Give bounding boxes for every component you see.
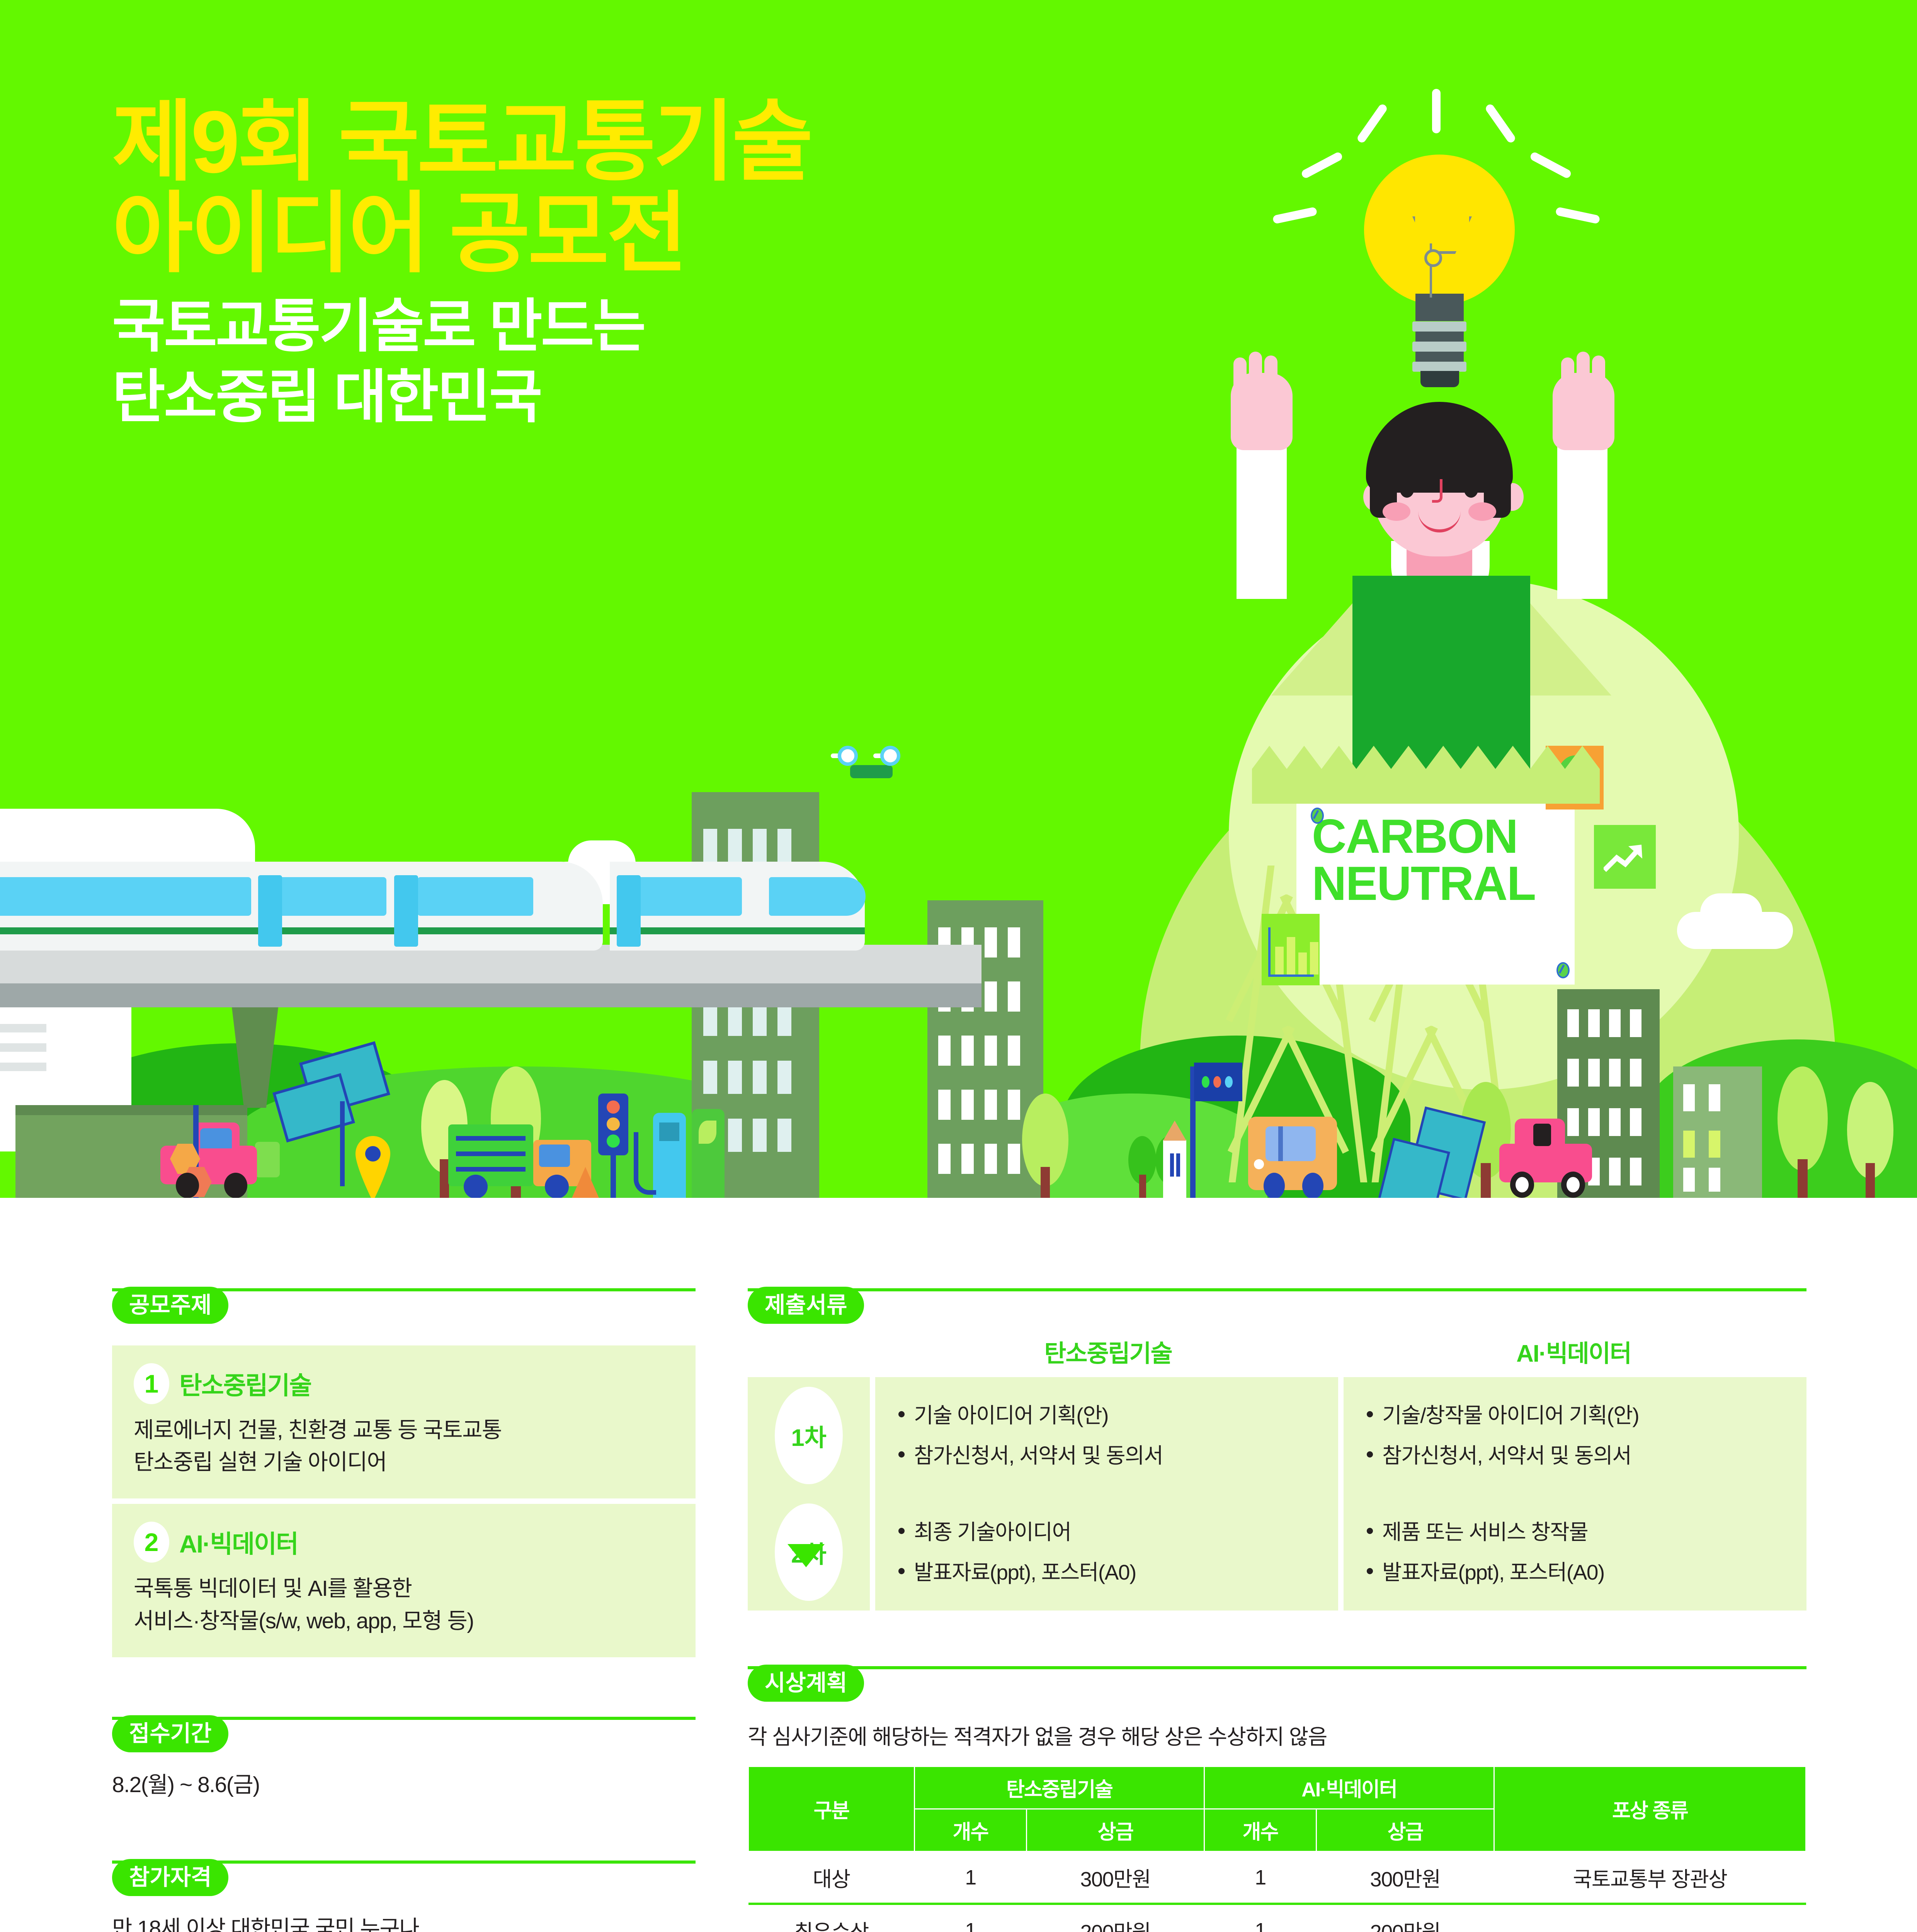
window [1630,1059,1641,1087]
truck-cab-window [539,1145,570,1167]
hero-title-block: 제9회 국토교통기술 아이디어 공모전 국토교통기술로 만드는 탄소중립 대한민… [112,97,1271,431]
list-item: 최종 기술아이디어 [896,1517,1317,1547]
train-window [634,877,742,916]
section-rule [748,1666,1806,1669]
section-period-header: 접수기간 [112,1715,696,1759]
drone-body [850,765,893,778]
awards-th-prize: 포상 종류 [1494,1767,1806,1852]
window [777,1003,791,1036]
awards-note: 각 심사기준에 해당하는 적격자가 없을 경우 해당 상은 수상하지 않음 [748,1719,1806,1750]
window [938,1036,951,1066]
van-window-split [1278,1126,1283,1161]
tree-canopy [1778,1066,1828,1171]
section-rule [748,1288,1806,1291]
train-window [0,877,251,916]
window [985,1090,997,1120]
section-documents-label: 제출서류 [748,1287,864,1324]
lightbulb-filament-dot [1424,249,1442,267]
section-eligibility: 참가자격 만 18세 이상 대한민국 국민 누구나 (개인 혹은 5인 이하 팀… [112,1859,696,1932]
topic-item-2-number: 2 [134,1522,169,1563]
house-roof [15,1105,247,1115]
list-item: 발표자료(ppt), 포스터(A0) [896,1557,1317,1587]
hero-banner: CARBON NEUTRAL [0,0,1917,1198]
window [1630,1108,1641,1136]
list-item: 참가신청서, 서약서 및 동의서 [1364,1440,1786,1471]
section-topic: 공모주제 1 탄소중립기술 제로에너지 건물, 친환경 교통 등 국토교통 탄소… [112,1287,696,1657]
hero-title-line-1: 제9회 국토교통기술 [112,97,1271,188]
hero-subtitle-line-1: 국토교통기술로 만드는 [112,292,1271,361]
section-eligibility-label: 참가자격 [112,1859,228,1896]
house-door-icon [255,1142,280,1177]
character-eye-right [1464,479,1478,498]
map-pin-icon [356,1136,390,1198]
trend-up-arrow-icon [1604,842,1646,873]
hero-subtitle-line-2: 탄소중립 대한민국 [112,363,1271,431]
window [1008,1090,1020,1120]
window [1709,1168,1720,1192]
billboard-line-2: NEUTRAL [1312,861,1575,908]
bulb-ray [1272,207,1317,224]
window [1567,1009,1579,1037]
window [1609,1108,1621,1136]
drone-rotor-hub-icon [838,746,858,766]
road-sign-dot [1225,1076,1233,1088]
van-wheel [1264,1173,1285,1198]
documents-cell-carbon-2: 최종 기술아이디어 발표자료(ppt), 포스터(A0) [875,1494,1338,1611]
section-topic-header: 공모주제 [112,1287,696,1330]
truck-wheel [464,1175,488,1198]
awards-th-count: 개수 [915,1809,1027,1852]
section-period: 접수기간 8.2(월) ~ 8.6(금) [112,1715,696,1801]
bar-chart-bar [1298,952,1307,975]
left-column: 공모주제 1 탄소중립기술 제로에너지 건물, 친환경 교통 등 국토교통 탄소… [112,1287,696,1932]
window [703,829,717,862]
window [1588,1059,1600,1087]
marker-post-line [1170,1153,1174,1177]
list-item: 기술 아이디어 기획(안) [896,1400,1317,1430]
bulb-ray [1484,103,1517,144]
marker-post-cap [1163,1121,1186,1141]
topic-item-2-name: AI·빅데이터 [179,1524,298,1560]
topic-item-1-desc: 제로에너지 건물, 친환경 교통 등 국토교통 탄소중립 실현 기술 아이디어 [134,1414,674,1478]
eligibility-line-1: 만 18세 이상 대한민국 국민 누구나 [112,1912,696,1932]
truck-stripe [456,1136,526,1141]
stage-flow-arrow-icon [788,1544,825,1567]
train-door [617,875,641,947]
window [1630,1158,1641,1185]
window [1630,1009,1641,1037]
marker-post [1163,1140,1186,1198]
section-documents: 제출서류 탄소중립기술 AI·빅데이터 1차 기술 아이디어 기획(안) [748,1287,1806,1611]
window [777,1119,791,1152]
window [1588,1108,1600,1136]
car-pink2-window [1533,1124,1551,1146]
truck-wheel [545,1175,569,1198]
window [961,1144,974,1174]
character-nose [1432,479,1442,503]
train-door [394,875,418,947]
window [703,1003,717,1036]
window [1683,1168,1695,1192]
road-sign-dot [1213,1076,1221,1088]
documents-cell-ai-1: 기술/창작물 아이디어 기획(안) 참가신청서, 서약서 및 동의서 [1344,1377,1806,1494]
awards-cell-prize: 국토교통부 장관상 [1494,1852,1806,1904]
window [1008,1036,1020,1066]
window [777,829,791,862]
documents-col-header-ai: AI·빅데이터 [1341,1334,1806,1369]
lightbulb-thread [1412,362,1466,372]
section-awards: 시상계획 각 심사기준에 해당하는 적격자가 없을 경우 해당 상은 수상하지 … [748,1665,1806,1932]
topic-item-1-name: 탄소중립기술 [179,1366,311,1401]
traffic-cone [572,1167,599,1198]
window [1683,1131,1695,1158]
traffic-light-red [607,1100,620,1114]
section-awards-label: 시상계획 [748,1665,864,1702]
train-stripe [0,927,603,934]
table-row: 대상 1 300만원 1 300만원 국토교통부 장관상 [748,1852,1806,1904]
window [1609,1059,1621,1087]
window [728,1061,742,1094]
character-eye-left [1400,479,1414,498]
traffic-light-pole [611,1151,616,1198]
documents-cell-carbon-1: 기술 아이디어 기획(안) 참가신청서, 서약서 및 동의서 [875,1377,1338,1494]
bar-chart-bar [1275,947,1284,975]
monorail-deck-lower [0,983,981,1007]
character-finger [1592,355,1605,398]
table-row: 최우수상 1 200만원 1 200만원 국토교통과학기술진흥원장상 [748,1904,1806,1932]
awards-cell-amount: 300만원 [1317,1852,1494,1904]
lightbulb-thread [1412,342,1466,352]
car-pink-wheel [176,1173,199,1198]
van-wheel [1302,1173,1323,1198]
documents-grid: 1차 기술 아이디어 기획(안) 참가신청서, 서약서 및 동의서 기술/창작물… [748,1377,1806,1611]
window [985,1144,997,1174]
awards-cell-prize: 국토교통과학기술진흥원장상 [1494,1904,1806,1932]
train-door [258,875,282,947]
drone-rotor-hub-icon [880,746,900,766]
window [1008,927,1020,957]
window [1709,1131,1720,1158]
window [753,829,767,862]
monorail-deck [0,945,981,983]
awards-cell-amount: 200만원 [1317,1904,1494,1932]
right-column: 제출서류 탄소중립기술 AI·빅데이터 1차 기술 아이디어 기획(안) [748,1287,1806,1932]
documents-cell-ai-2: 제품 또는 서비스 창작물 발표자료(ppt), 포스터(A0) [1344,1494,1806,1611]
awards-th-carbon: 탄소중립기술 [915,1767,1204,1809]
window [703,1061,717,1094]
list-item: 제품 또는 서비스 창작물 [1364,1517,1786,1547]
station-detail-line [0,1043,46,1052]
station-detail-line [0,1063,46,1071]
bar-chart-axis-y [1268,927,1271,977]
bar-chart-bar [1310,942,1318,975]
train-window [417,877,533,916]
lightbulb-neck [1415,294,1464,311]
window [753,1061,767,1094]
bulb-ray [1300,151,1344,179]
documents-column-headers: 탄소중립기술 AI·빅데이터 [875,1334,1806,1369]
billboard-screw-icon [1311,808,1324,824]
building-right-short [1673,1066,1762,1198]
lightbulb-thread [1415,311,1464,321]
topic-item-1-number: 1 [134,1363,169,1404]
awards-cell-div: 대상 [748,1852,915,1904]
awards-cell-count: 1 [1204,1904,1317,1932]
window [1567,1059,1579,1087]
section-awards-header: 시상계획 [748,1665,1806,1708]
topic-item-1-head: 1 탄소중립기술 [134,1363,674,1404]
window [728,829,742,862]
topic-item-2: 2 AI·빅데이터 국톡통 빅데이터 및 AI를 활용한 서비스·창작물(s/w… [112,1504,696,1657]
window [985,1036,997,1066]
awards-cell-count: 1 [1204,1852,1317,1904]
topic-item-2-desc: 국톡통 빅데이터 및 AI를 활용한 서비스·창작물(s/w, web, app… [134,1573,674,1637]
documents-row-stage2: 2차 최종 기술아이디어 발표자료(ppt), 포스터(A0) 제품 또는 서비… [748,1494,1806,1611]
topic-item-1: 1 탄소중립기술 제로에너지 건물, 친환경 교통 등 국토교통 탄소중립 실현… [112,1345,696,1498]
train-window [274,877,386,916]
station-detail-line [0,1024,46,1032]
road-sign-dot [1202,1076,1209,1088]
documents-col-header-carbon: 탄소중립기술 [875,1334,1341,1369]
tree-trunk [440,1159,449,1198]
awards-th-amount: 상금 [1317,1809,1494,1852]
section-documents-header: 제출서류 [748,1287,1806,1330]
window [1609,1009,1621,1037]
awards-table: 구분 탄소중립기술 AI·빅데이터 포상 종류 개수 상금 개수 상금 [748,1766,1806,1932]
tree-trunk [1041,1167,1050,1198]
bulb-ray [1432,89,1441,133]
window [1709,1084,1720,1111]
car-pink-wheel [224,1173,247,1198]
window [1588,1009,1600,1037]
car-pink-window [200,1128,232,1148]
cloud [1700,893,1762,932]
billboard-screw-icon [1556,962,1570,978]
awards-cell-count: 1 [915,1904,1027,1932]
window [728,1003,742,1036]
bar-chart-axis-x [1268,975,1314,977]
bulb-ray [1356,103,1388,144]
bar-chart-bar [1287,937,1295,975]
awards-th-count: 개수 [1204,1809,1317,1852]
section-eligibility-header: 참가자격 [112,1859,696,1902]
tree-trunk [1139,1175,1146,1198]
character-shoulder-left [1271,599,1356,696]
topic-item-2-head: 2 AI·빅데이터 [134,1522,674,1563]
documents-stage-cell: 1차 [748,1377,870,1494]
bulb-ray [1555,207,1600,224]
window [985,981,997,1012]
ev-charger-cable [634,1132,656,1195]
documents-row-stage1: 1차 기술 아이디어 기획(안) 참가신청서, 서약서 및 동의서 기술/창작물… [748,1377,1806,1494]
awards-th-div: 구분 [748,1767,915,1852]
window [777,1061,791,1094]
window [1567,1108,1579,1136]
tree-trunk [1798,1159,1808,1198]
window [961,1090,974,1120]
awards-th-amount: 상금 [1027,1809,1204,1852]
window [728,1119,742,1152]
content-area: 공모주제 1 탄소중립기술 제로에너지 건물, 친환경 교통 등 국토교통 탄소… [0,1198,1917,1932]
lightbulb-thread [1415,352,1464,362]
awards-cell-amount: 200만원 [1027,1904,1204,1932]
list-item: 발표자료(ppt), 포스터(A0) [1364,1557,1786,1587]
character-arm-right [1557,437,1607,599]
lightbulb-base [1420,371,1459,387]
awards-cell-div: 최우수상 [748,1904,915,1932]
character-finger [1577,352,1590,394]
awards-cell-amount: 300만원 [1027,1852,1204,1904]
lightbulb-thread [1412,321,1466,332]
character-cheek-right [1468,502,1496,521]
section-period-text: 8.2(월) ~ 8.6(금) [112,1769,696,1801]
truck-stripe [456,1167,526,1172]
marker-post-line [1176,1153,1180,1177]
window [753,1119,767,1152]
section-topic-label: 공모주제 [112,1287,228,1324]
awards-th-ai: AI·빅데이터 [1204,1767,1494,1809]
tree-trunk [1866,1163,1875,1198]
solar-panel-post [340,1101,345,1186]
ev-charger-screen [659,1122,679,1141]
list-item: 기술/창작물 아이디어 기획(안) [1364,1400,1786,1430]
billboard-line-1: CARBON [1312,813,1575,861]
window [1008,1144,1020,1174]
bulb-ray [1529,151,1572,179]
hero-title-line-2: 아이디어 공모전 [112,188,1271,280]
window [961,1036,974,1066]
window [938,1090,951,1120]
billboard-text: CARBON NEUTRAL [1312,813,1575,907]
window [1008,981,1020,1012]
window [1609,1158,1621,1185]
window [753,1003,767,1036]
grass-zigzag [1252,746,1600,804]
ev-charger-leaf-icon [699,1121,716,1144]
car-pink2-wheel [1510,1172,1534,1198]
car-pink2-wheel [1561,1172,1585,1198]
documents-stage-1-badge: 1차 [775,1387,843,1484]
train-window [769,877,866,916]
window [938,1144,951,1174]
character-arm-left [1237,437,1287,599]
traffic-light-green [607,1134,620,1148]
awards-header-row-1: 구분 탄소중립기술 AI·빅데이터 포상 종류 [748,1767,1806,1809]
window [1683,1084,1695,1111]
truck-stripe [456,1151,526,1156]
lightbulb-thread [1415,332,1464,342]
window [985,927,997,957]
poster-root: CARBON NEUTRAL [0,0,1917,1932]
train-stripe [610,927,865,934]
section-eligibility-body: 만 18세 이상 대한민국 국민 누구나 (개인 혹은 5인 이하 팀) [112,1912,696,1932]
character-cheek-left [1383,502,1410,521]
list-item: 참가신청서, 서약서 및 동의서 [896,1440,1317,1471]
awards-cell-count: 1 [915,1852,1027,1904]
tree-trunk [1481,1163,1491,1198]
van-light [1254,1159,1264,1169]
van-window [1266,1126,1316,1161]
character-finger [1561,357,1574,400]
section-period-label: 접수기간 [112,1715,228,1752]
traffic-light-yellow [607,1117,620,1131]
